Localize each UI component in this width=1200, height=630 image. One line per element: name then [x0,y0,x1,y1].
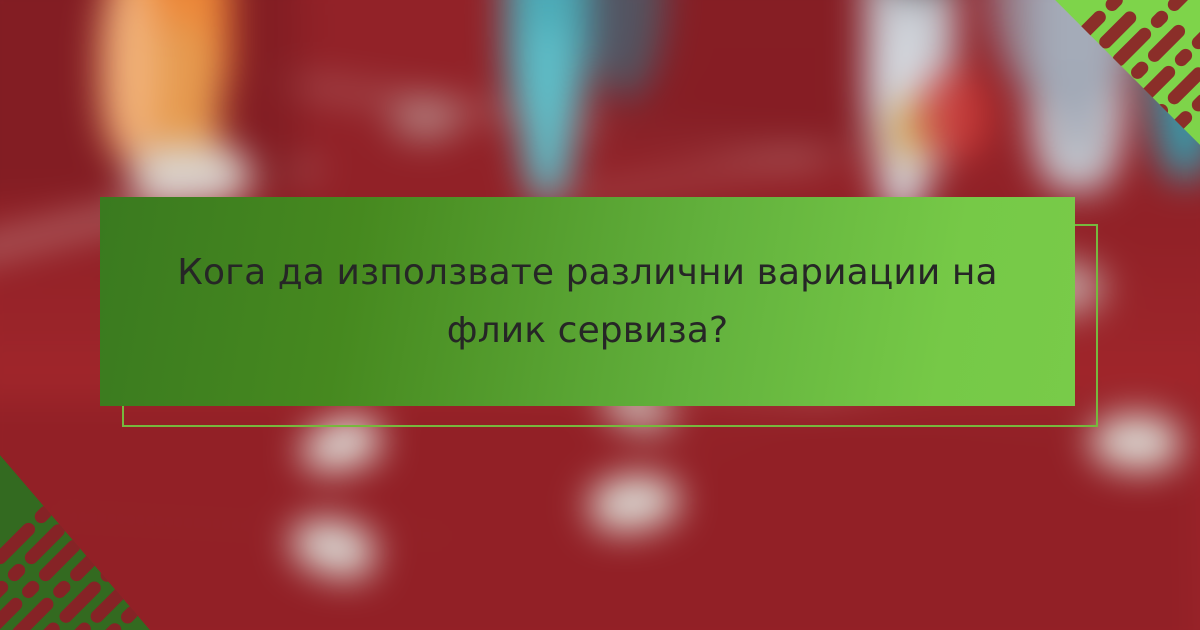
corner-decoration-top-right [1010,0,1200,190]
shuttlecock [390,100,460,140]
shuttlecock [1090,415,1180,470]
player-teal-limb [520,20,575,200]
corner-decoration-bottom-left [0,440,190,630]
player-accent-red [920,70,990,160]
dashed-diagonal-corner-icon [0,440,190,630]
player-shoe [130,145,250,205]
title-banner: Кога да използвате различни вариации на … [100,197,1075,406]
player-orange-limb [100,0,160,160]
dashed-diagonal-corner-icon [1010,0,1200,190]
page-title: Кога да използвате различни вариации на … [140,244,1035,359]
